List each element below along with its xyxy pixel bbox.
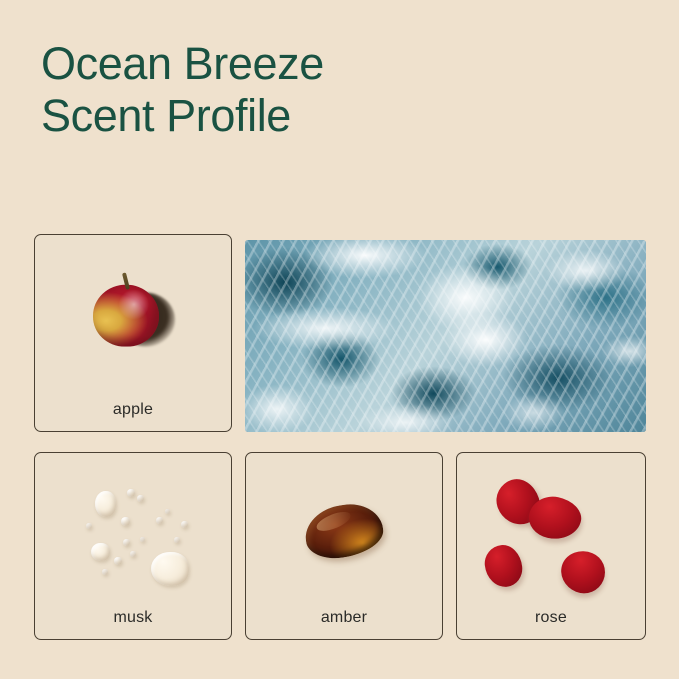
apple-body — [93, 285, 159, 347]
scent-card-rose[interactable]: rose — [456, 452, 646, 640]
droplet — [165, 509, 170, 514]
scent-card-label-rose: rose — [457, 609, 645, 627]
droplet — [121, 517, 130, 526]
scent-card-amber[interactable]: amber — [245, 452, 443, 640]
droplet — [86, 523, 92, 529]
scent-card-label-musk: musk — [35, 609, 231, 627]
droplet — [91, 543, 110, 561]
page-title-line-2: Scent Profile — [41, 90, 601, 142]
droplet — [102, 569, 108, 575]
droplet — [127, 489, 135, 497]
scent-card-label-amber: amber — [246, 609, 442, 627]
musk-icon — [35, 453, 231, 605]
rose-icon — [457, 453, 645, 605]
droplet — [130, 551, 136, 557]
page-title: Ocean Breeze Scent Profile — [41, 38, 601, 142]
droplet — [151, 552, 189, 586]
apple-icon — [35, 235, 231, 397]
droplet — [181, 521, 188, 528]
droplet — [114, 557, 122, 565]
amber-stone-body — [302, 500, 386, 562]
droplet — [174, 537, 180, 543]
amber-highlight — [315, 508, 353, 534]
scent-card-apple[interactable]: apple — [34, 234, 232, 432]
droplet — [123, 539, 130, 546]
ocean-foam-image — [245, 240, 646, 432]
scent-card-label-apple: apple — [35, 401, 231, 419]
rose-petals-illustration — [457, 453, 645, 605]
droplet — [156, 517, 163, 524]
droplet — [140, 537, 145, 542]
ocean-spray-layer — [245, 240, 646, 432]
amber-stone-illustration — [305, 505, 383, 557]
water-droplets-illustration — [35, 453, 231, 605]
apple-illustration — [87, 271, 179, 355]
droplet — [95, 491, 116, 517]
scent-card-grid: apple — [34, 234, 646, 640]
page-title-line-1: Ocean Breeze — [41, 38, 601, 90]
rose-petal — [483, 543, 524, 589]
scent-profile-page: Ocean Breeze Scent Profile apple — [0, 0, 679, 679]
droplet — [137, 495, 144, 502]
scent-card-musk[interactable]: musk — [34, 452, 232, 640]
amber-icon — [246, 453, 442, 605]
rose-petal — [555, 544, 612, 599]
